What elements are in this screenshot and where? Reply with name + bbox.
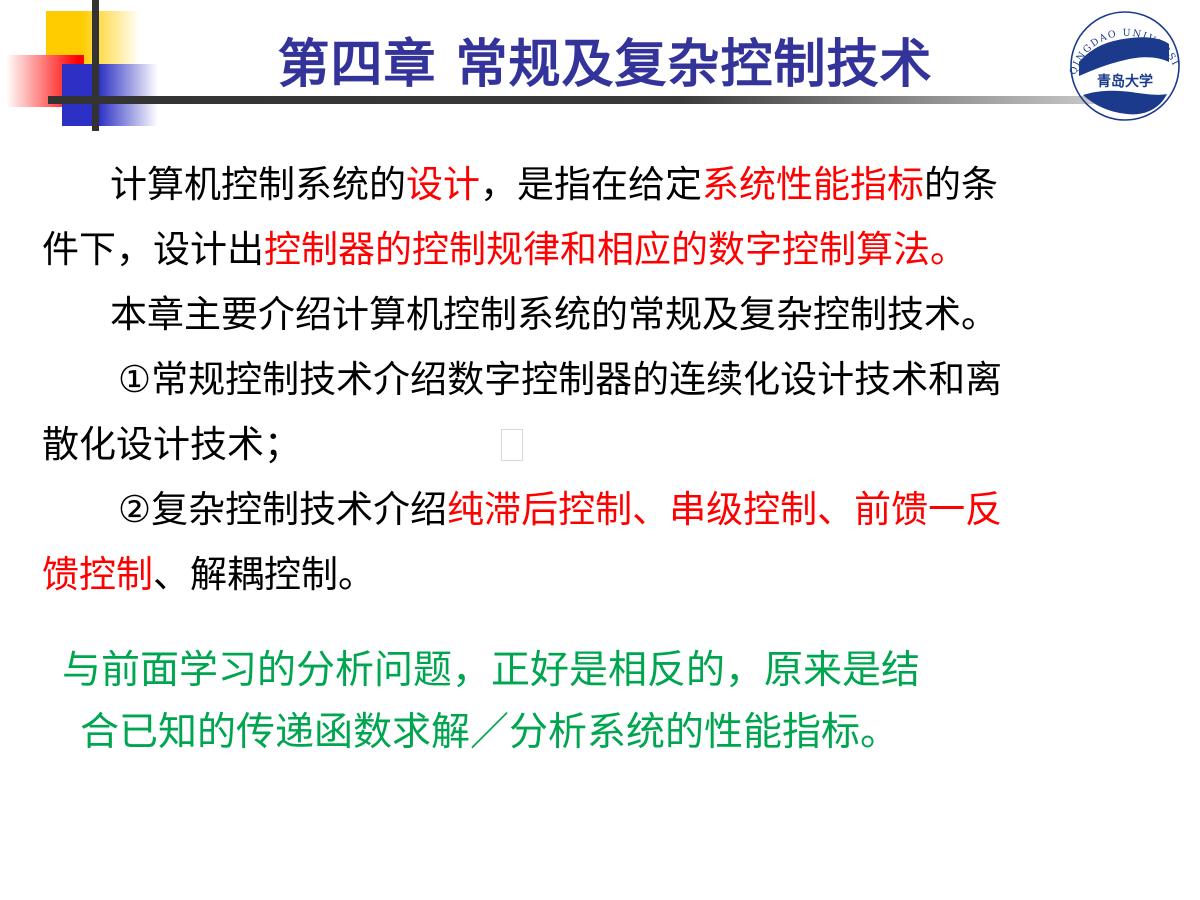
svg-text:1909: 1909 [1122,99,1145,109]
body-line-5: 散化设计技术； [42,412,1162,477]
body-line-4: ①常规控制技术介绍数字控制器的连续化设计技术和离 [42,347,1162,412]
slide-body: 计算机控制系统的设计，是指在给定系统性能指标的条 件下，设计出控制器的控制规律和… [42,152,1162,607]
text-run: 计算机控制系统的 [110,163,406,206]
text-run: 散化设计技术； [42,423,301,466]
decoration-vertical-rule [92,0,99,131]
decoration-horizontal-rule [48,96,1098,104]
text-run-highlight: 纯滞后控制、串级控制、前馈一反 [447,488,1002,531]
body-line-3: 本章主要介绍计算机控制系统的常规及复杂控制技术。 [42,282,1162,347]
text-run-highlight: 系统性能指标 [702,163,924,206]
text-run: 的条 [924,163,998,206]
decoration-block-blue [62,64,158,126]
conclusion-block: 与前面学习的分析问题，正好是相反的，原来是结 合已知的传递函数求解／分析系统的性… [62,640,1142,764]
conclusion-line-1: 与前面学习的分析问题，正好是相反的，原来是结 [62,640,1142,702]
body-line-1: 计算机控制系统的设计，是指在给定系统性能指标的条 [42,152,1162,217]
conclusion-line-2: 合已知的传递函数求解／分析系统的性能指标。 [62,702,1142,764]
text-run-highlight: 设计 [406,163,480,206]
missing-glyph-box [501,429,523,461]
page-title: 第四章 常规及复杂控制技术 [200,22,1010,97]
text-run: ②复杂控制技术介绍 [118,488,447,531]
header-decoration [0,0,190,140]
body-line-7: 馈控制、解耦控制。 [42,542,1162,607]
body-line-2: 件下，设计出控制器的控制规律和相应的数字控制算法。 [42,217,1162,282]
body-line-6: ②复杂控制技术介绍纯滞后控制、串级控制、前馈一反 [42,477,1162,542]
text-run-highlight: 馈控制 [42,553,153,596]
text-run: 件下，设计出 [42,228,264,271]
svg-text:青岛大学: 青岛大学 [1097,73,1153,90]
text-run: 、解耦控制。 [153,553,375,596]
text-run: 本章主要介绍计算机控制系统的常规及复杂控制技术。 [110,293,998,336]
qingdao-university-logo: QINGDAO UNIVERSITY 青岛大学 1909 [1055,0,1195,132]
text-run: ①常规控制技术介绍数字控制器的连续化设计技术和离 [118,358,1002,401]
text-run: ，是指在给定 [480,163,702,206]
text-run-highlight: 控制器的控制规律和相应的数字控制算法。 [264,228,967,271]
svg-text:QINGDAO UNIVERSITY: QINGDAO UNIVERSITY [1055,0,1181,76]
